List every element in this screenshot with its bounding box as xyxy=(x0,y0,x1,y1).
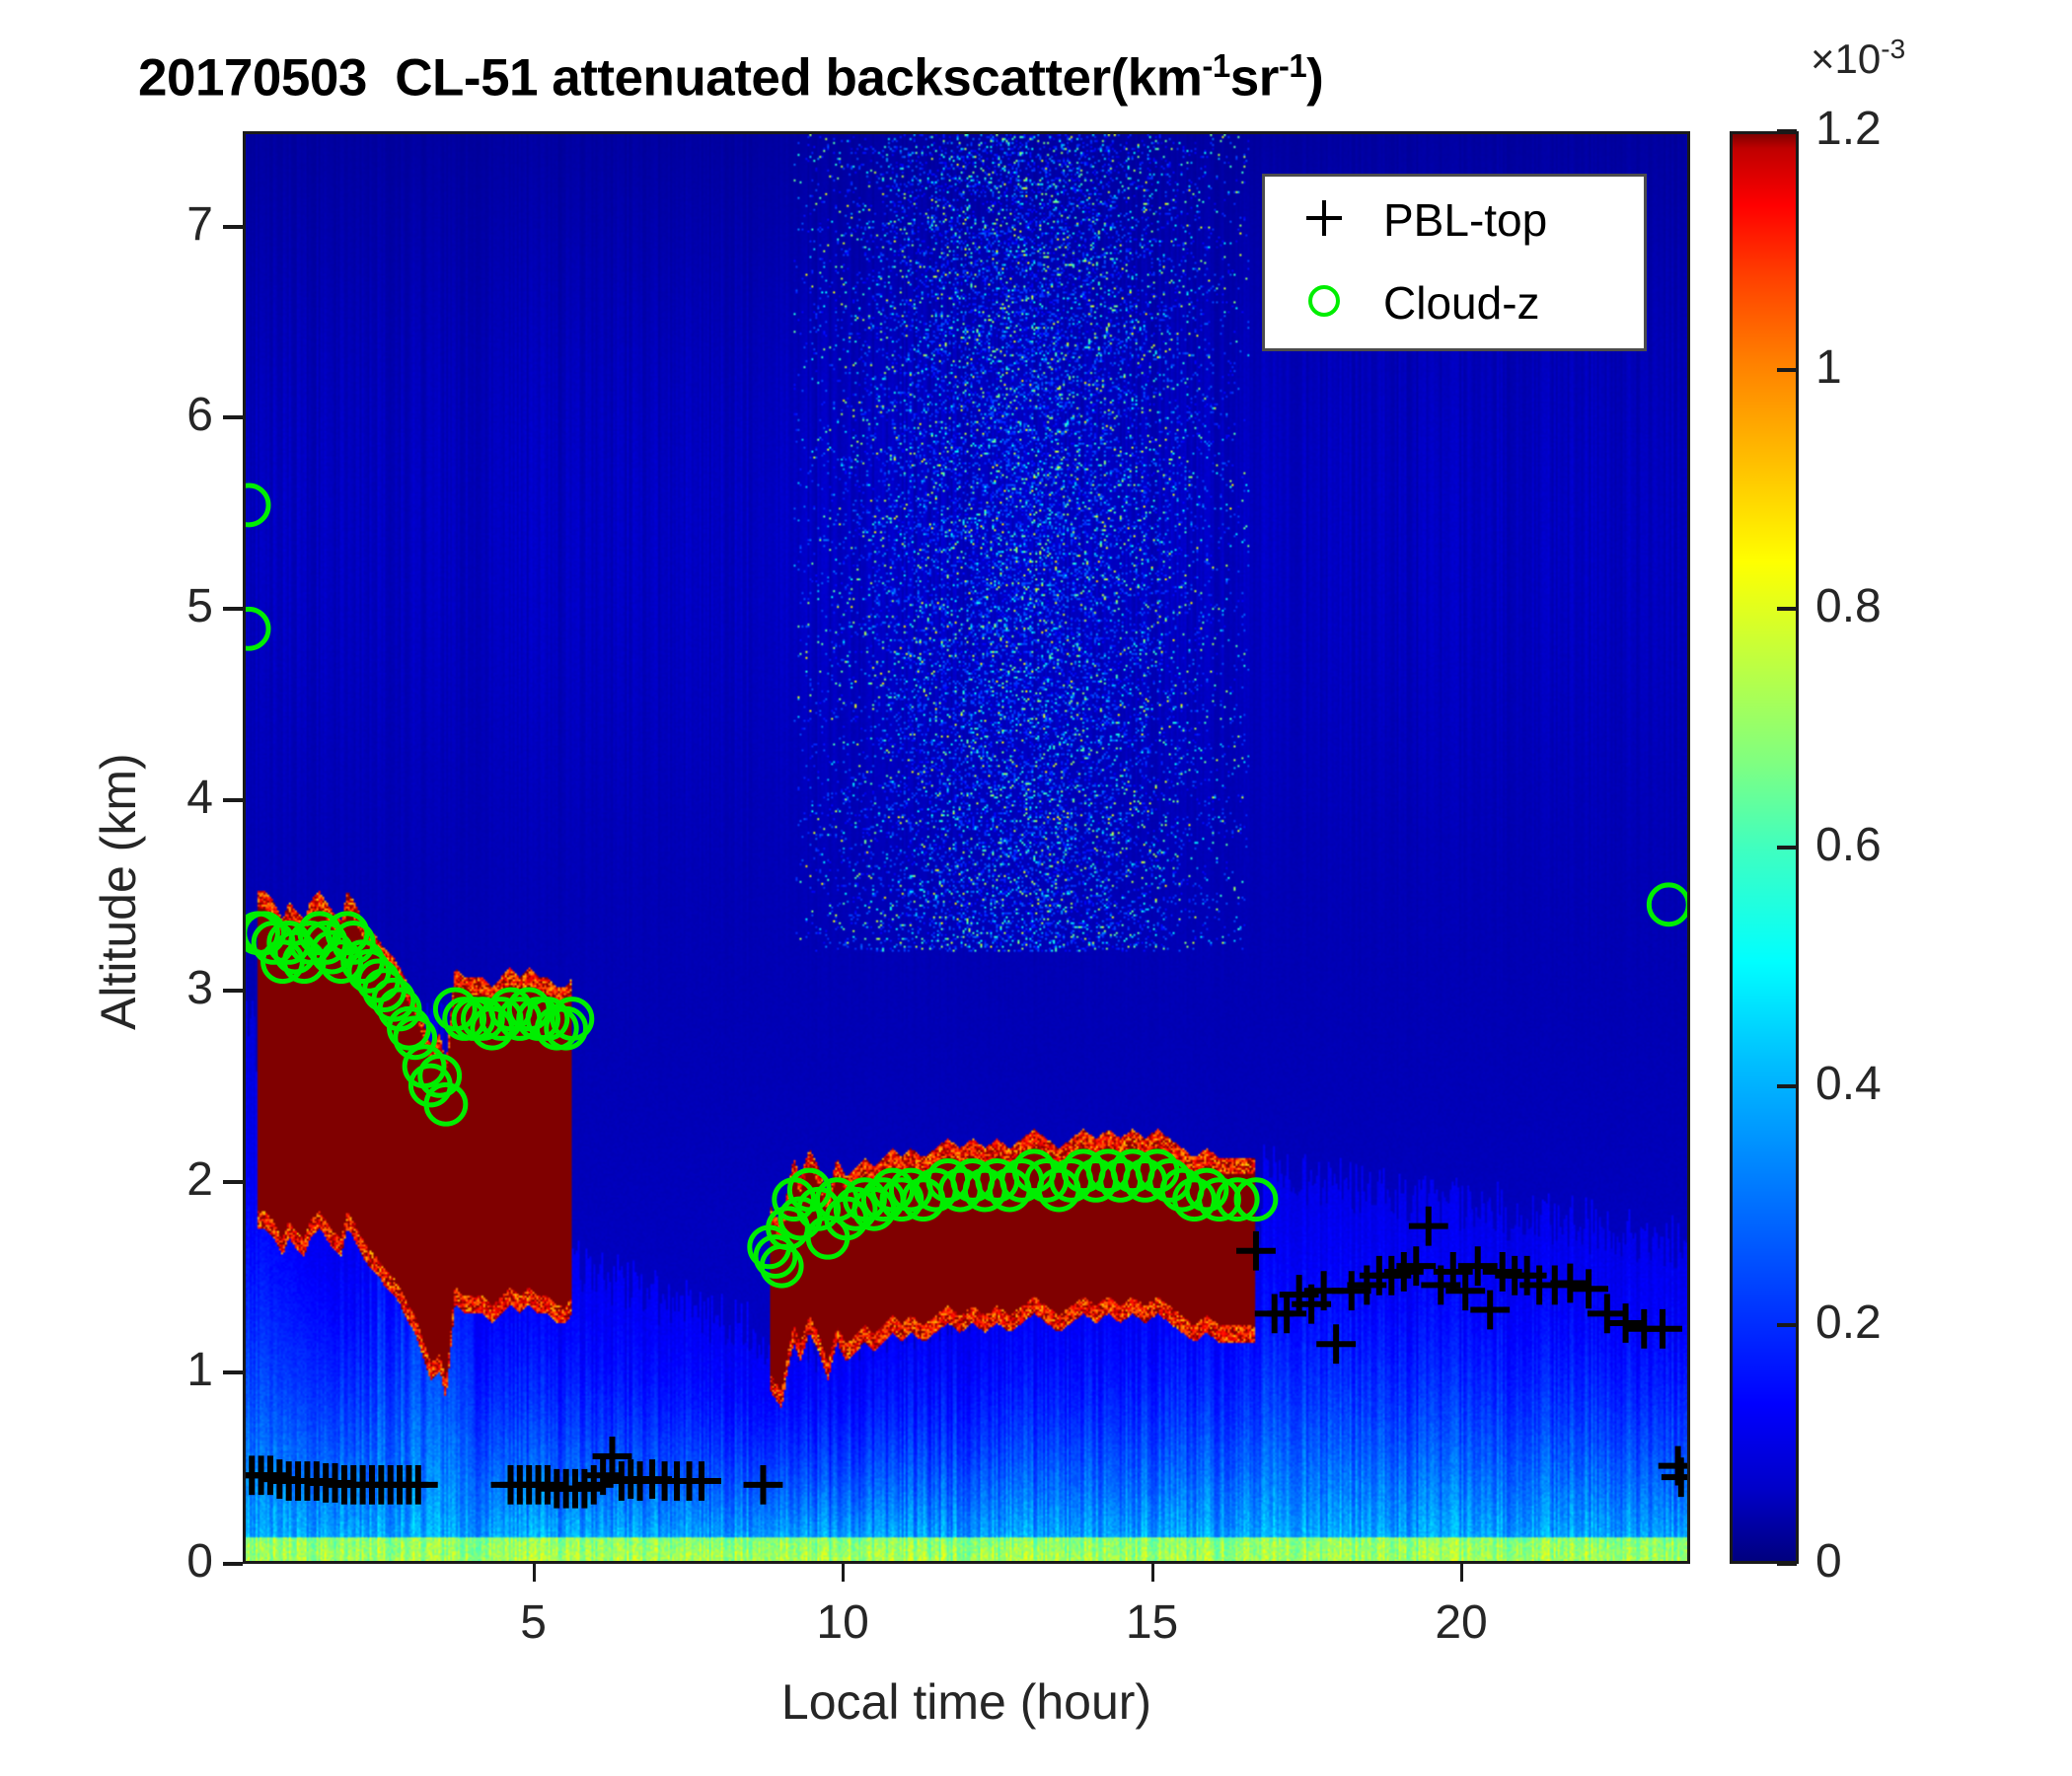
pbl-top-marker xyxy=(399,1465,438,1505)
y-tick-label: 6 xyxy=(105,392,213,439)
title-unit-km-exp: -1 xyxy=(1202,47,1229,84)
x-axis-label: Local time (hour) xyxy=(243,1677,1690,1727)
pbl-top-marker xyxy=(251,1455,290,1495)
y-tick-label: 5 xyxy=(105,583,213,630)
x-tick xyxy=(533,1564,536,1582)
y-tick-label: 2 xyxy=(105,1156,213,1204)
colorbar-multiplier: ×10-3 xyxy=(1811,36,1905,80)
title-unit-close: ) xyxy=(1306,49,1323,108)
colorbar-tick-label: 0.4 xyxy=(1815,1061,1882,1108)
colorbar-tick-label: 1 xyxy=(1815,344,1842,392)
y-tick-label: 1 xyxy=(105,1347,213,1394)
title-unit-open: ( xyxy=(1111,49,1128,108)
x-tick xyxy=(1151,1564,1154,1582)
plus-marker-icon xyxy=(1265,195,1383,246)
pbl-top-marker xyxy=(593,1437,632,1476)
colorbar-tick xyxy=(1777,1323,1797,1327)
cloud-z-markers xyxy=(246,485,1687,1286)
pbl-top-marker xyxy=(1409,1207,1448,1246)
pbl-top-marker xyxy=(1236,1231,1276,1271)
legend-item-cloud-z[interactable]: Cloud-z xyxy=(1265,263,1644,342)
y-tick-label: 7 xyxy=(105,201,213,249)
x-tick-label: 5 xyxy=(455,1599,613,1647)
y-tick xyxy=(223,415,243,419)
title-unit-sr-exp: -1 xyxy=(1279,47,1306,84)
colorbar-tick xyxy=(1777,1562,1797,1566)
y-tick xyxy=(223,607,243,611)
pbl-top-marker xyxy=(528,1465,567,1505)
legend-item-pbl-top[interactable]: PBL-top xyxy=(1265,181,1644,259)
colorbar-tick-label: 0.8 xyxy=(1815,583,1882,630)
x-tick-label: 10 xyxy=(764,1599,922,1647)
cloud-z-marker xyxy=(1649,885,1687,925)
pbl-top-marker xyxy=(1606,1303,1646,1343)
circle-marker-icon xyxy=(1265,282,1383,325)
colorbar-tick xyxy=(1777,607,1797,611)
pbl-top-marker xyxy=(1588,1294,1627,1333)
title-unit-sr: sr xyxy=(1230,49,1279,108)
colorbar-tick-label: 0 xyxy=(1815,1538,1842,1586)
x-tick xyxy=(1460,1564,1463,1582)
chart-title: 20170503 CL-51 attenuated backscatter(km… xyxy=(138,36,1737,97)
y-tick xyxy=(223,1562,243,1566)
legend-label-cloud-z: Cloud-z xyxy=(1383,280,1540,326)
pbl-top-marker xyxy=(574,1465,614,1505)
y-axis-label: Altitude (km) xyxy=(94,753,143,1030)
pbl-top-marker xyxy=(1569,1269,1608,1308)
pbl-top-marker xyxy=(1316,1324,1356,1364)
colorbar-tick xyxy=(1777,129,1797,133)
title-instrument: CL-51 xyxy=(395,49,538,108)
colorbar-tick xyxy=(1777,368,1797,372)
y-tick xyxy=(223,1180,243,1184)
legend[interactable]: PBL-top Cloud-z xyxy=(1262,174,1647,351)
x-tick xyxy=(842,1564,845,1582)
legend-label-pbl-top: PBL-top xyxy=(1383,197,1547,243)
title-unit-km: km xyxy=(1128,49,1203,108)
x-tick-label: 20 xyxy=(1382,1599,1540,1647)
y-tick xyxy=(223,989,243,993)
colorbar-multiplier-exponent: -3 xyxy=(1881,34,1905,64)
pbl-top-marker xyxy=(1643,1309,1682,1349)
colorbar-tick-label: 1.2 xyxy=(1815,106,1882,153)
cloud-z-marker xyxy=(246,485,268,525)
cloud-z-marker xyxy=(246,609,268,648)
colorbar-tick xyxy=(1777,1084,1797,1088)
y-tick xyxy=(223,225,243,229)
colorbar-tick-label: 0.6 xyxy=(1815,822,1882,869)
title-date: 20170503 xyxy=(138,49,367,108)
pbl-top-markers xyxy=(246,1207,1687,1509)
pbl-top-marker xyxy=(1470,1291,1510,1330)
colorbar-multiplier-prefix: ×10 xyxy=(1811,36,1881,82)
colorbar-tick xyxy=(1777,846,1797,850)
y-tick-label: 0 xyxy=(105,1538,213,1586)
y-tick xyxy=(223,1370,243,1374)
colorbar-tick-label: 0.2 xyxy=(1815,1299,1882,1347)
x-tick-label: 15 xyxy=(1073,1599,1231,1647)
y-tick xyxy=(223,798,243,802)
title-quantity: attenuated backscatter xyxy=(552,49,1110,108)
pbl-top-marker xyxy=(744,1465,783,1505)
